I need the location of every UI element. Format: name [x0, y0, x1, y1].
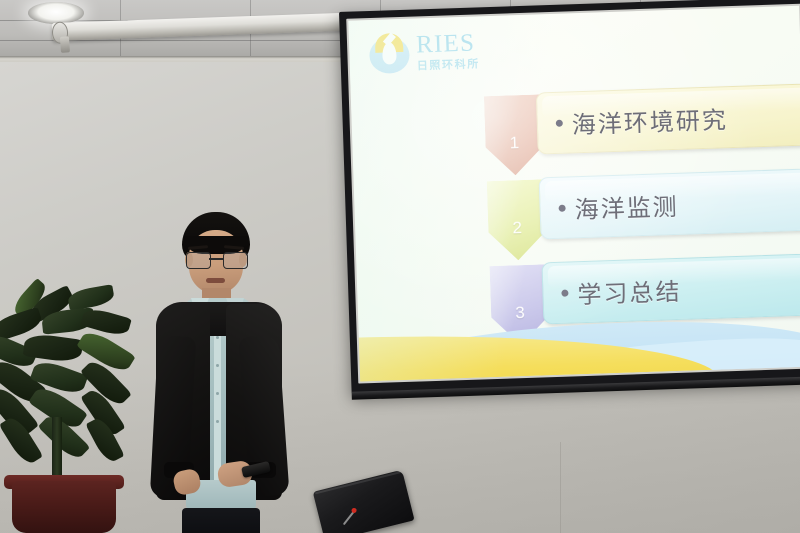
agenda-box-2[interactable]: 海洋监测 [539, 167, 800, 239]
thinkpad-logo-icon [341, 507, 358, 526]
plant-pot [12, 481, 116, 533]
agenda-row: 2 海洋监测 [487, 168, 800, 263]
ceiling-downlight [28, 2, 84, 24]
presentation-room-photo: RIES 日照环科所 1 海洋环境研究 2 [0, 0, 800, 533]
projection-screen: RIES 日照环科所 1 海洋环境研究 2 [339, 0, 800, 394]
agenda-box-3[interactable]: 学习总结 [541, 252, 800, 324]
agenda-label-3: 学习总结 [577, 271, 682, 309]
presentation-slide: RIES 日照环科所 1 海洋环境研究 2 [348, 6, 800, 382]
glasses-icon [186, 252, 246, 268]
trousers [182, 508, 260, 533]
mouth [206, 278, 225, 283]
agenda-list: 1 海洋环境研究 2 海洋监测 [484, 83, 800, 349]
bullet-icon [558, 204, 565, 211]
presenter [138, 212, 298, 533]
agenda-label-1: 海洋环境研究 [571, 100, 728, 140]
potted-plant [0, 288, 156, 533]
agenda-number-3: 3 [515, 303, 525, 323]
agenda-label-2: 海洋监测 [574, 186, 679, 224]
logo-subtitle: 日照环科所 [417, 59, 480, 72]
agenda-number-1: 1 [509, 133, 519, 153]
wall-seam [560, 442, 561, 533]
bullet-icon [561, 289, 568, 296]
logo-wordmark: RIES [416, 30, 480, 57]
ries-lotus-icon [369, 33, 410, 74]
bullet-icon [556, 119, 563, 126]
roller-bracket [60, 36, 70, 53]
slide-logo: RIES 日照环科所 [369, 30, 480, 74]
agenda-box-1[interactable]: 海洋环境研究 [536, 82, 800, 154]
agenda-row: 1 海洋环境研究 [484, 83, 800, 178]
agenda-number-2: 2 [512, 218, 522, 238]
